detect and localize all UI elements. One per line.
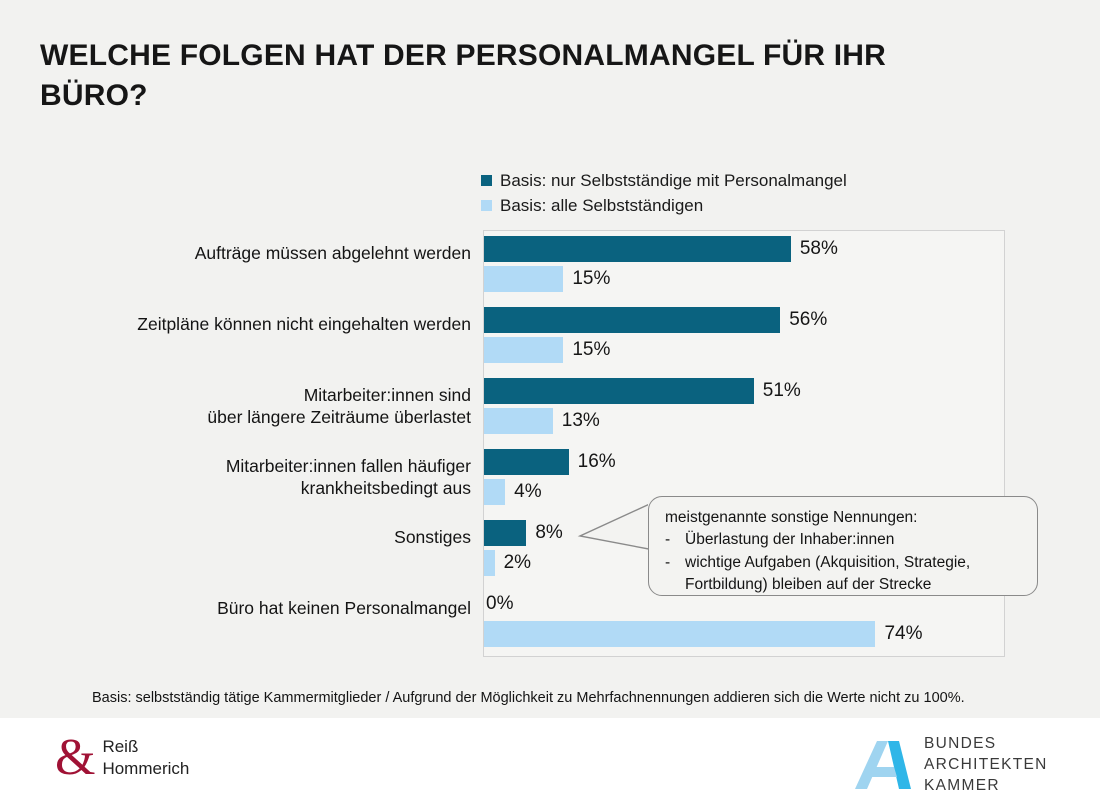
chart-legend: Basis: nur Selbstständige mit Personalma…	[481, 168, 847, 218]
callout-item-2: - wichtige Aufgaben (Akquisition, Strate…	[665, 552, 1025, 597]
bar-line: 58%	[484, 236, 838, 262]
page-title: WELCHE FOLGEN HAT DER PERSONALMANGEL FÜR…	[40, 36, 970, 115]
legend-swatch-light	[481, 200, 492, 211]
bar	[484, 236, 791, 262]
logo-left-line2: Hommerich	[102, 759, 189, 778]
bar-value-label: 15%	[572, 268, 610, 290]
logo-right-line2: ARCHITEKTEN	[924, 756, 1048, 773]
bak-logo-text: BUNDES ARCHITEKTEN KAMMER	[924, 733, 1048, 797]
bar-group: 16%4%	[484, 449, 616, 505]
bar-value-label: 2%	[504, 552, 531, 574]
category-label: Sonstiges	[51, 526, 471, 548]
legend-item-dark: Basis: nur Selbstständige mit Personalma…	[481, 168, 847, 193]
bar-value-label: 0%	[486, 593, 513, 615]
bar	[484, 337, 563, 363]
bar	[484, 479, 505, 505]
callout-dash-2: -	[665, 552, 685, 597]
bar-line: 15%	[484, 337, 827, 363]
ampersand-icon: &	[55, 736, 95, 780]
chart-row: Zeitpläne können nicht eingehalten werde…	[0, 307, 1100, 369]
bar-line: 13%	[484, 408, 801, 434]
legend-label-light: Basis: alle Selbstständigen	[500, 196, 703, 216]
bar	[484, 307, 780, 333]
bar-group: 56%15%	[484, 307, 827, 363]
bar-line: 15%	[484, 266, 838, 292]
bar-line: 56%	[484, 307, 827, 333]
bundesarchitektenkammer-logo: BUNDES ARCHITEKTEN KAMMER	[855, 733, 1048, 797]
bar	[484, 378, 754, 404]
bar	[484, 520, 526, 546]
legend-item-light: Basis: alle Selbstständigen	[481, 193, 847, 218]
callout-box: meistgenannte sonstige Nennungen: - Über…	[648, 496, 1038, 596]
bar-value-label: 74%	[884, 623, 922, 645]
legend-swatch-dark	[481, 175, 492, 186]
category-label: Mitarbeiter:innen fallen häufiger krankh…	[51, 455, 471, 500]
bar	[484, 550, 495, 576]
chart-row: Mitarbeiter:innen sind über längere Zeit…	[0, 378, 1100, 440]
bar-value-label: 16%	[578, 451, 616, 473]
logo-right-line1: BUNDES	[924, 735, 996, 752]
bar	[484, 449, 569, 475]
footnote: Basis: selbstständig tätige Kammermitgli…	[92, 690, 965, 706]
bar-value-label: 8%	[535, 522, 562, 544]
reiss-hommerich-text: Reiß Hommerich	[102, 736, 189, 781]
reiss-hommerich-logo: & Reiß Hommerich	[55, 736, 189, 781]
bak-a-mark-icon	[855, 739, 911, 791]
bar-group: 0%74%	[484, 591, 922, 647]
logo-left-line1: Reiß	[102, 737, 138, 756]
category-label: Büro hat keinen Personalmangel	[51, 597, 471, 619]
bar	[484, 621, 875, 647]
callout-dash-1: -	[665, 529, 685, 551]
bar-group: 58%15%	[484, 236, 838, 292]
bar-line: 74%	[484, 621, 922, 647]
bar-line: 2%	[484, 550, 563, 576]
category-label: Mitarbeiter:innen sind über längere Zeit…	[51, 384, 471, 429]
bar-line: 51%	[484, 378, 801, 404]
category-label: Zeitpläne können nicht eingehalten werde…	[51, 313, 471, 335]
callout-item-1: - Überlastung der Inhaber:innen	[665, 529, 1025, 551]
callout-text-2: wichtige Aufgaben (Akquisition, Strategi…	[685, 552, 1025, 597]
category-label: Aufträge müssen abgelehnt werden	[51, 242, 471, 264]
logo-right-line3: KAMMER	[924, 777, 1000, 794]
bar-value-label: 13%	[562, 410, 600, 432]
bar-group: 51%13%	[484, 378, 801, 434]
bar-value-label: 4%	[514, 481, 541, 503]
callout-text-1: Überlastung der Inhaber:innen	[685, 529, 1025, 551]
bar-value-label: 15%	[572, 339, 610, 361]
chart-row: Büro hat keinen Personalmangel0%74%	[0, 591, 1100, 653]
chart-row: Aufträge müssen abgelehnt werden58%15%	[0, 236, 1100, 298]
bar-value-label: 51%	[763, 380, 801, 402]
bar	[484, 266, 563, 292]
callout-pointer-icon	[576, 500, 656, 576]
bar	[484, 408, 553, 434]
bar-value-label: 58%	[800, 238, 838, 260]
legend-label-dark: Basis: nur Selbstständige mit Personalma…	[500, 171, 847, 191]
bar-line: 8%	[484, 520, 563, 546]
bar-line: 16%	[484, 449, 616, 475]
callout-title: meistgenannte sonstige Nennungen:	[665, 507, 1025, 529]
bar-group: 8%2%	[484, 520, 563, 576]
bar-value-label: 56%	[789, 309, 827, 331]
